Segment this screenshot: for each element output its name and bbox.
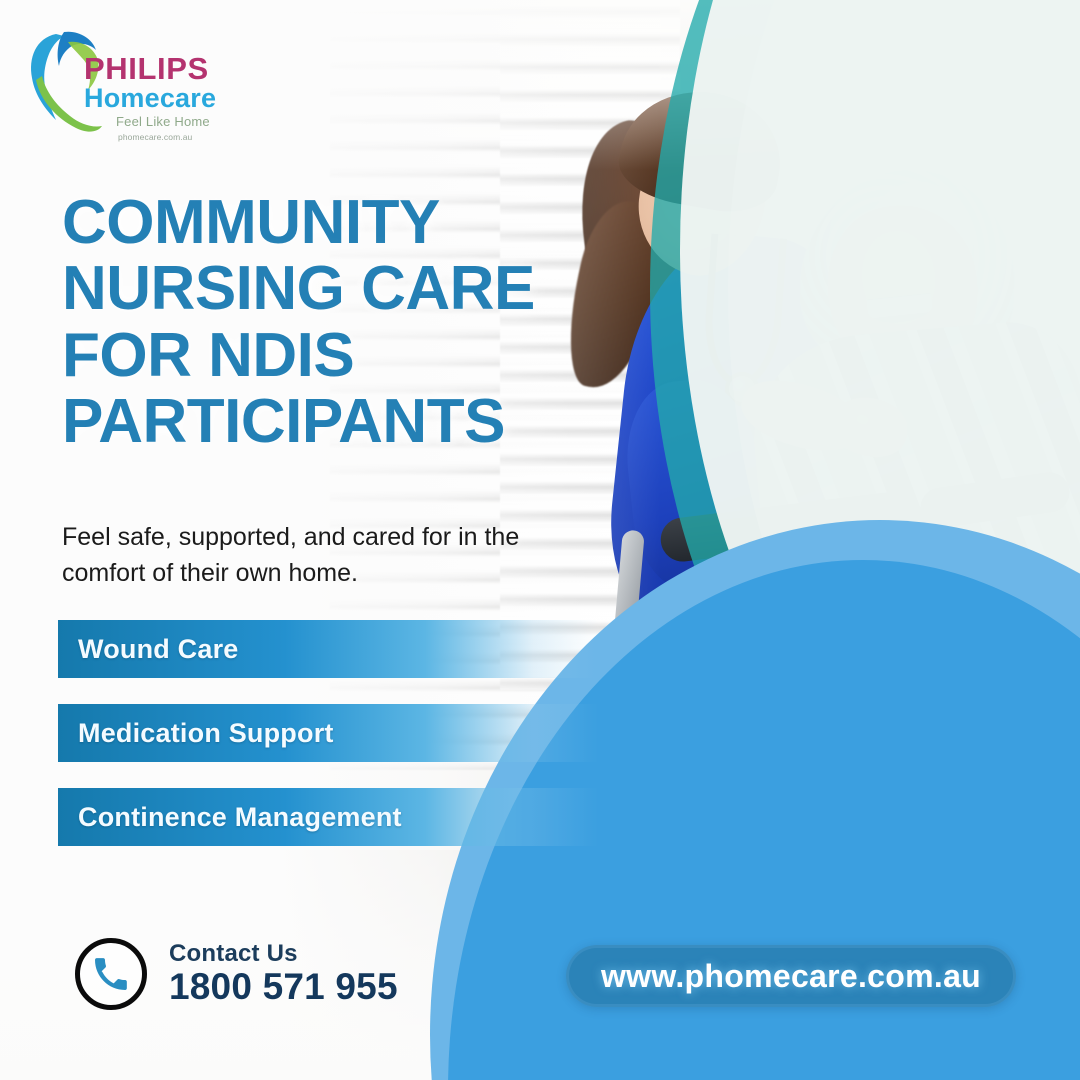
service-list: Wound Care Medication Support Continence… bbox=[58, 620, 598, 872]
contact-block[interactable]: Contact Us 1800 571 955 bbox=[75, 938, 398, 1010]
wheelchair-footplate-right bbox=[697, 803, 878, 898]
phone-icon-ring bbox=[75, 938, 147, 1010]
logo-url: phomecare.com.au bbox=[118, 132, 192, 142]
service-label: Wound Care bbox=[78, 634, 239, 665]
poster-canvas: PHILIPS Homecare Feel Like Home phomecar… bbox=[0, 0, 1080, 1080]
subheading: Feel safe, supported, and cared for in t… bbox=[62, 520, 572, 591]
service-label: Medication Support bbox=[78, 718, 334, 749]
page-title: COMMUNITY NURSING CARE FOR NDIS PARTICIP… bbox=[62, 190, 602, 455]
logo-wordmark: PHILIPS Homecare bbox=[84, 54, 216, 112]
contact-text: Contact Us 1800 571 955 bbox=[169, 940, 398, 1008]
logo-tagline: Feel Like Home bbox=[116, 114, 210, 129]
contact-label: Contact Us bbox=[169, 940, 398, 968]
logo-philips-text: PHILIPS bbox=[84, 54, 216, 84]
logo-homecare-text: Homecare bbox=[84, 84, 216, 112]
service-item-wound-care[interactable]: Wound Care bbox=[58, 620, 598, 678]
brand-logo[interactable]: PHILIPS Homecare Feel Like Home phomecar… bbox=[26, 22, 226, 140]
website-url: www.phomecare.com.au bbox=[601, 958, 981, 995]
website-button[interactable]: www.phomecare.com.au bbox=[566, 945, 1016, 1007]
contact-phone-number[interactable]: 1800 571 955 bbox=[169, 967, 398, 1008]
service-label: Continence Management bbox=[78, 802, 402, 833]
phone-icon bbox=[92, 955, 130, 993]
service-item-medication-support[interactable]: Medication Support bbox=[58, 704, 598, 762]
service-item-continence-management[interactable]: Continence Management bbox=[58, 788, 598, 846]
